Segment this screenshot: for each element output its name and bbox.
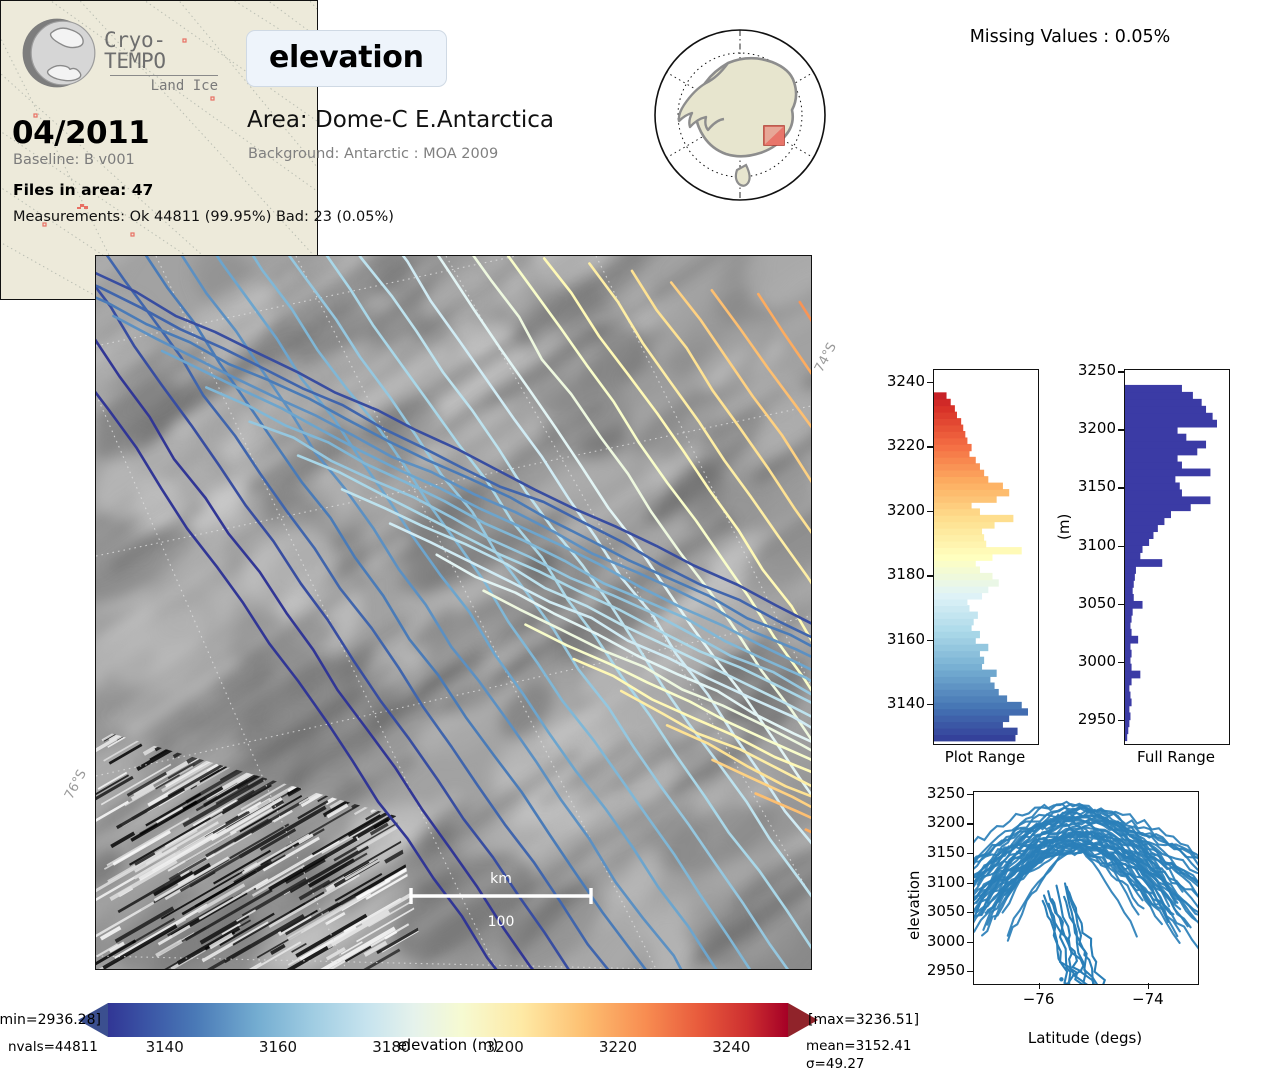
- full-range-tick-label: 3150: [1046, 477, 1116, 495]
- colorbar-nvals-label: nvals=44811: [8, 1039, 98, 1055]
- plot-range-tick-label: 3200: [855, 501, 925, 519]
- scatter-y-tick-mark: [967, 853, 973, 854]
- measurements-label: Measurements: Ok 44811 (99.95%) Bad: 23 …: [13, 209, 394, 225]
- logo-divider: [110, 75, 218, 76]
- colorbar-axis-label: elevation (m): [258, 1036, 638, 1054]
- logo-title: Cryo-TEMPO: [104, 30, 224, 72]
- date-label: 04/2011: [12, 115, 149, 151]
- scatter-x-tick-label: −76: [1009, 990, 1069, 1008]
- scatter-y-tick-mark: [967, 942, 973, 943]
- scatter-y-tick-mark: [967, 971, 973, 972]
- plot-range-histogram: [933, 369, 1039, 745]
- map-latitude-label-74s: 74°S: [812, 340, 840, 375]
- plot-range-tick-mark: [927, 382, 933, 383]
- colorbar-sigma-label: σ=49.27: [806, 1056, 865, 1072]
- scatter-x-axis-label: Latitude (degs): [973, 1029, 1197, 1047]
- scatter-y-tick-mark: [967, 912, 973, 913]
- full-range-tick-mark: [1118, 720, 1124, 721]
- scatter-y-tick-mark: [967, 883, 973, 884]
- plot-range-tick-label: 3140: [855, 694, 925, 712]
- full-range-tick-mark: [1118, 662, 1124, 663]
- colorbar-tick-label: 3140: [130, 1038, 200, 1056]
- scatter-y-tick-label: 2950: [897, 961, 965, 979]
- full-range-histogram: [1124, 369, 1230, 745]
- full-range-tick-mark: [1118, 371, 1124, 372]
- full-range-tick-label: 3000: [1046, 652, 1116, 670]
- colorbar-tick-label: 3160: [243, 1038, 313, 1056]
- colorbar-gradient: [108, 1003, 788, 1037]
- antarctica-locator-icon: [650, 25, 830, 205]
- plot-range-tick-label: 3160: [855, 630, 925, 648]
- full-range-tick-mark: [1118, 604, 1124, 605]
- scatter-y-axis-label: elevation: [905, 871, 923, 940]
- colorbar-tick-label: 3180: [356, 1038, 426, 1056]
- full-range-tick-mark: [1118, 429, 1124, 430]
- logo-text-block: Cryo-TEMPO Land Ice: [104, 30, 224, 94]
- plot-range-tick-label: 3180: [855, 565, 925, 583]
- colorbar-max-label: [max=3236.51]: [808, 1012, 919, 1028]
- full-range-caption: Full Range: [1094, 748, 1258, 766]
- plot-range-tick-mark: [927, 575, 933, 576]
- scatter-x-tick-label: −74: [1118, 990, 1178, 1008]
- full-range-tick-label: 3200: [1046, 419, 1116, 437]
- full-range-tick-mark: [1118, 487, 1124, 488]
- baseline-label: Baseline: B v001: [13, 152, 135, 168]
- map-scalebar-value: 100: [488, 914, 515, 930]
- main-map[interactable]: km100: [95, 255, 812, 970]
- area-title: Area: Dome-C E.Antarctica: [247, 107, 554, 133]
- scatter-x-tick-mark: [1039, 983, 1040, 989]
- globe-antarctica-icon: [14, 10, 100, 96]
- colorbar-tick-label: 3240: [696, 1038, 766, 1056]
- parameter-badge: elevation: [246, 30, 447, 87]
- scatter-y-tick-label: 3150: [897, 843, 965, 861]
- scatter-y-tick-mark: [967, 823, 973, 824]
- plot-range-tick-mark: [927, 704, 933, 705]
- map-latitude-label-76s: 76°S: [62, 767, 90, 802]
- colorbar-min-label: [min=2936.28]: [0, 1012, 101, 1028]
- plot-range-tick-mark: [927, 511, 933, 512]
- plot-range-tick-mark: [927, 446, 933, 447]
- plot-range-caption: Plot Range: [903, 748, 1067, 766]
- elevation-vs-latitude-scatter: [973, 791, 1199, 985]
- full-range-tick-label: 3250: [1046, 361, 1116, 379]
- colorbar-tick-label: 3220: [583, 1038, 653, 1056]
- plot-range-tick-label: 3220: [855, 436, 925, 454]
- plot-range-tick-mark: [927, 640, 933, 641]
- logo-subtitle: Land Ice: [104, 78, 218, 94]
- missing-values-title: Missing Values : 0.05%: [910, 27, 1230, 47]
- scatter-y-tick-mark: [967, 794, 973, 795]
- full-range-tick-label: 3050: [1046, 594, 1116, 612]
- colorbar-tick-label: 3200: [470, 1038, 540, 1056]
- files-in-area-label: Files in area: 47: [13, 181, 153, 199]
- scatter-y-tick-label: 3250: [897, 784, 965, 802]
- full-range-tick-label: 2950: [1046, 710, 1116, 728]
- colorbar-mean-label: mean=3152.41: [806, 1038, 911, 1054]
- background-source-label: Background: Antarctic : MOA 2009: [248, 146, 498, 162]
- full-range-tick-mark: [1118, 546, 1124, 547]
- plot-range-tick-label: 3240: [855, 372, 925, 390]
- map-scalebar-unit: km: [490, 871, 512, 887]
- scatter-y-tick-label: 3200: [897, 813, 965, 831]
- full-range-y-axis-label: (m): [1055, 514, 1073, 540]
- scatter-x-tick-mark: [1148, 983, 1149, 989]
